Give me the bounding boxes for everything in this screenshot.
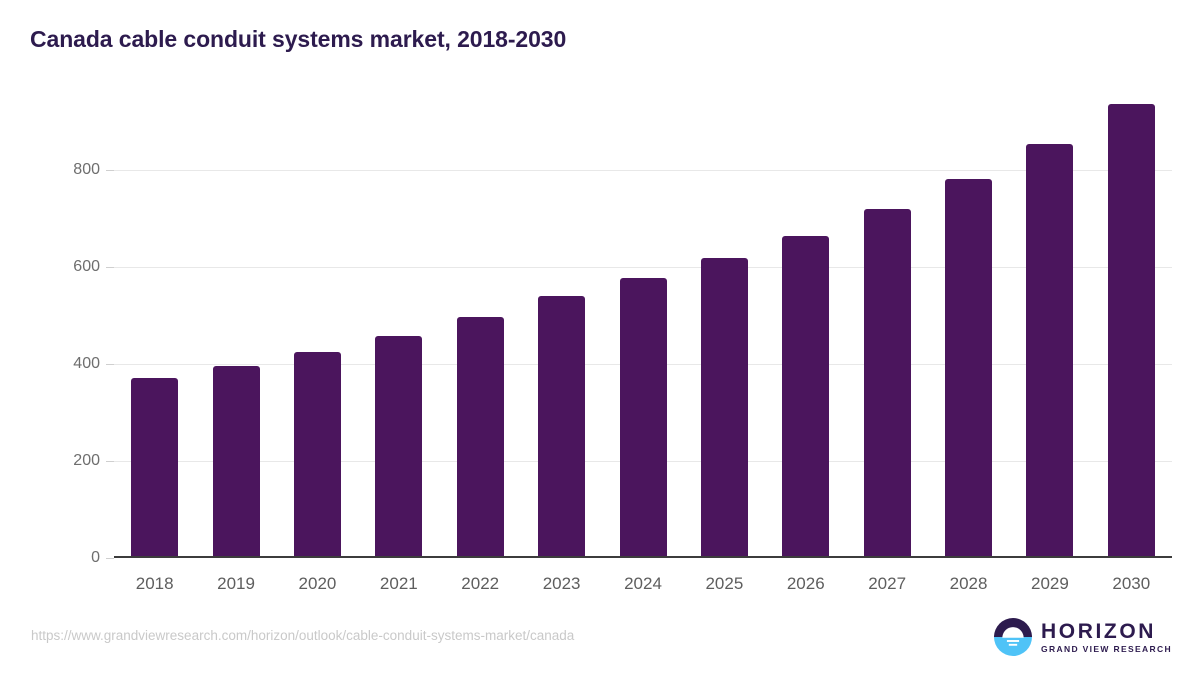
bar-group[interactable] (131, 92, 178, 558)
y-axis-tick-label: 600 (30, 258, 100, 276)
bar[interactable] (375, 336, 422, 558)
y-axis-tick (106, 267, 114, 268)
bar-group[interactable] (1108, 92, 1155, 558)
bar[interactable] (864, 209, 911, 558)
bar[interactable] (945, 179, 992, 558)
y-axis-tick (106, 364, 114, 365)
bar-group[interactable] (213, 92, 260, 558)
x-axis-line (114, 556, 1172, 558)
plot-area (114, 92, 1172, 558)
horizon-circle-icon (994, 618, 1032, 656)
bar-group[interactable] (945, 92, 992, 558)
bar-group[interactable] (375, 92, 422, 558)
y-axis-tick-label: 800 (30, 161, 100, 179)
logo-text: HORIZON GRAND VIEW RESEARCH (1041, 621, 1172, 654)
logo-wordmark: HORIZON (1041, 621, 1172, 642)
bar-group[interactable] (864, 92, 911, 558)
bar-group[interactable] (294, 92, 341, 558)
x-axis-tick-label: 2030 (1081, 574, 1181, 594)
bar-group[interactable] (457, 92, 504, 558)
bar-group[interactable] (782, 92, 829, 558)
bar[interactable] (782, 236, 829, 558)
source-url[interactable]: https://www.grandviewresearch.com/horizo… (31, 628, 574, 643)
bar[interactable] (701, 258, 748, 558)
bar[interactable] (1026, 144, 1073, 558)
page-title: Canada cable conduit systems market, 201… (30, 26, 566, 53)
chart-page: Canada cable conduit systems market, 201… (0, 0, 1200, 675)
logo-tagline: GRAND VIEW RESEARCH (1041, 645, 1172, 654)
y-axis-tick-label: 400 (30, 355, 100, 373)
y-axis-tick (106, 461, 114, 462)
bar[interactable] (1108, 104, 1155, 558)
bar[interactable] (620, 278, 667, 558)
bar-group[interactable] (620, 92, 667, 558)
y-axis-tick (106, 558, 114, 559)
y-axis-tick (106, 170, 114, 171)
bar-group[interactable] (538, 92, 585, 558)
y-axis-tick-label: 200 (30, 452, 100, 470)
bar-group[interactable] (1026, 92, 1073, 558)
y-axis-tick-label: 0 (30, 549, 100, 567)
bar[interactable] (457, 317, 504, 558)
bar[interactable] (538, 296, 585, 558)
bar-group[interactable] (701, 92, 748, 558)
bar[interactable] (213, 366, 260, 558)
horizon-logo[interactable]: HORIZON GRAND VIEW RESEARCH (994, 618, 1172, 656)
bar[interactable] (294, 352, 341, 558)
bar[interactable] (131, 378, 178, 558)
